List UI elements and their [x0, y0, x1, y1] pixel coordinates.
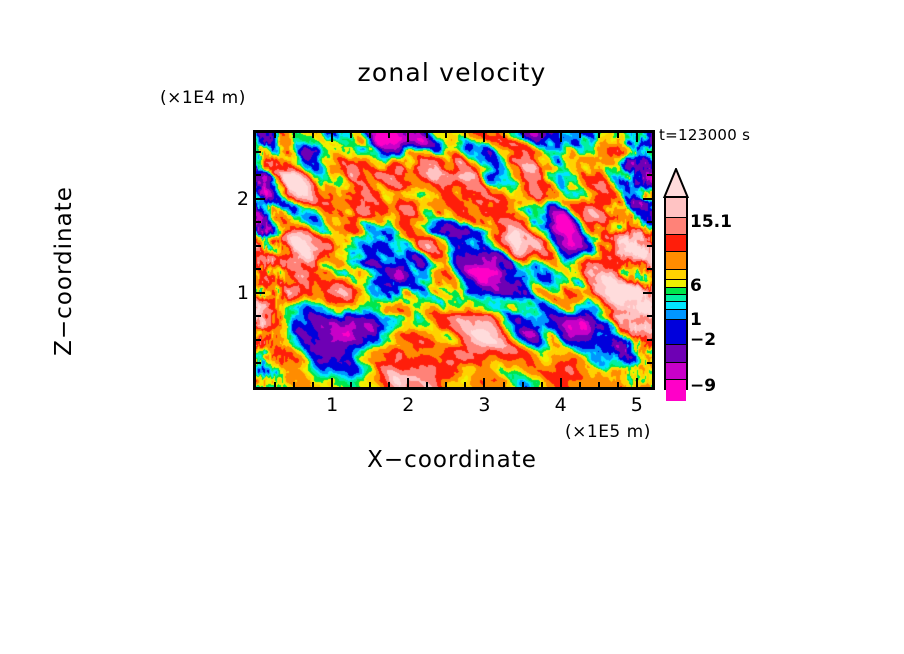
- y-minor-tick: [647, 151, 652, 153]
- x-major-tick: [636, 378, 638, 387]
- x-minor-tick: [274, 133, 276, 138]
- y-minor-tick: [256, 339, 261, 341]
- x-axis-units-label: (×1E5 m): [565, 422, 651, 442]
- colorbar-segment: [666, 252, 686, 270]
- x-minor-tick: [503, 382, 505, 387]
- x-minor-tick: [350, 382, 352, 387]
- x-minor-tick: [579, 133, 581, 138]
- x-tick-label: 5: [631, 394, 643, 416]
- x-minor-tick: [445, 382, 447, 387]
- colorbar-arrow-icon: [659, 168, 693, 198]
- x-minor-tick: [579, 382, 581, 387]
- colorbar-segment: [666, 380, 686, 401]
- colorbar-label: 1: [690, 310, 702, 330]
- y-minor-tick: [647, 221, 652, 223]
- y-tick-label: 1: [237, 282, 249, 304]
- y-minor-tick: [647, 174, 652, 176]
- x-minor-tick: [369, 382, 371, 387]
- x-major-tick: [331, 133, 333, 142]
- y-minor-tick: [647, 315, 652, 317]
- x-minor-tick: [369, 133, 371, 138]
- y-major-tick: [256, 292, 265, 294]
- y-minor-tick: [647, 339, 652, 341]
- y-minor-tick: [647, 245, 652, 247]
- velocity-field-canvas: [256, 133, 652, 387]
- x-minor-tick: [598, 133, 600, 138]
- x-major-tick: [331, 378, 333, 387]
- colorbar: [659, 168, 693, 390]
- x-major-tick: [407, 133, 409, 142]
- x-tick-label: 3: [478, 394, 490, 416]
- y-minor-tick: [256, 245, 261, 247]
- x-minor-tick: [541, 382, 543, 387]
- x-tick-label: 4: [555, 394, 567, 416]
- x-major-tick: [483, 378, 485, 387]
- y-minor-tick: [256, 151, 261, 153]
- x-minor-tick: [522, 133, 524, 138]
- y-axis-units-label: (×1E4 m): [160, 88, 246, 108]
- colorbar-segment: [666, 288, 686, 295]
- x-minor-tick: [312, 382, 314, 387]
- x-minor-tick: [522, 382, 524, 387]
- colorbar-segments: [664, 196, 688, 390]
- y-major-tick: [643, 198, 652, 200]
- x-minor-tick: [445, 133, 447, 138]
- x-major-tick: [636, 133, 638, 142]
- y-minor-tick: [256, 174, 261, 176]
- colorbar-segment: [666, 198, 686, 218]
- x-minor-tick: [293, 382, 295, 387]
- colorbar-segment: [666, 270, 686, 280]
- y-minor-tick: [256, 268, 261, 270]
- colorbar-label: 6: [690, 276, 702, 296]
- x-minor-tick: [503, 133, 505, 138]
- x-major-tick: [560, 133, 562, 142]
- x-axis-tick-labels: 12345: [253, 394, 655, 420]
- x-minor-tick: [598, 382, 600, 387]
- colorbar-segment: [666, 320, 686, 345]
- x-tick-label: 2: [402, 394, 414, 416]
- contour-plot-area: [253, 130, 655, 390]
- x-axis-label: X−coordinate: [0, 447, 904, 473]
- colorbar-segment: [666, 218, 686, 235]
- x-minor-tick: [388, 133, 390, 138]
- colorbar-segment: [666, 310, 686, 320]
- y-minor-tick: [647, 362, 652, 364]
- x-minor-tick: [426, 382, 428, 387]
- colorbar-label: 15.1: [690, 212, 732, 232]
- colorbar-tick-labels: 15.161−2−9: [690, 168, 770, 398]
- x-minor-tick: [426, 133, 428, 138]
- timestamp-annotation: t=123000 s: [659, 126, 750, 144]
- colorbar-segment: [666, 235, 686, 253]
- x-minor-tick: [293, 133, 295, 138]
- y-tick-label: 2: [237, 188, 249, 210]
- chart-title: zonal velocity: [0, 58, 904, 87]
- x-minor-tick: [274, 382, 276, 387]
- x-minor-tick: [617, 133, 619, 138]
- x-minor-tick: [388, 382, 390, 387]
- y-major-tick: [643, 292, 652, 294]
- x-minor-tick: [464, 133, 466, 138]
- colorbar-label: −2: [690, 330, 716, 350]
- y-axis-tick-labels: 12: [213, 130, 249, 390]
- x-minor-tick: [464, 382, 466, 387]
- x-major-tick: [407, 378, 409, 387]
- y-minor-tick: [256, 362, 261, 364]
- colorbar-label: −9: [690, 376, 716, 396]
- x-major-tick: [560, 378, 562, 387]
- x-minor-tick: [617, 382, 619, 387]
- x-major-tick: [483, 133, 485, 142]
- colorbar-segment: [666, 295, 686, 302]
- y-major-tick: [256, 198, 265, 200]
- y-minor-tick: [647, 268, 652, 270]
- x-tick-label: 1: [326, 394, 338, 416]
- colorbar-segment: [666, 345, 686, 363]
- x-minor-tick: [541, 133, 543, 138]
- y-minor-tick: [256, 315, 261, 317]
- y-minor-tick: [256, 221, 261, 223]
- colorbar-segment: [666, 280, 686, 288]
- y-axis-label: Z−coordinate: [51, 141, 77, 401]
- x-minor-tick: [350, 133, 352, 138]
- x-minor-tick: [312, 133, 314, 138]
- colorbar-segment: [666, 302, 686, 310]
- colorbar-segment: [666, 363, 686, 381]
